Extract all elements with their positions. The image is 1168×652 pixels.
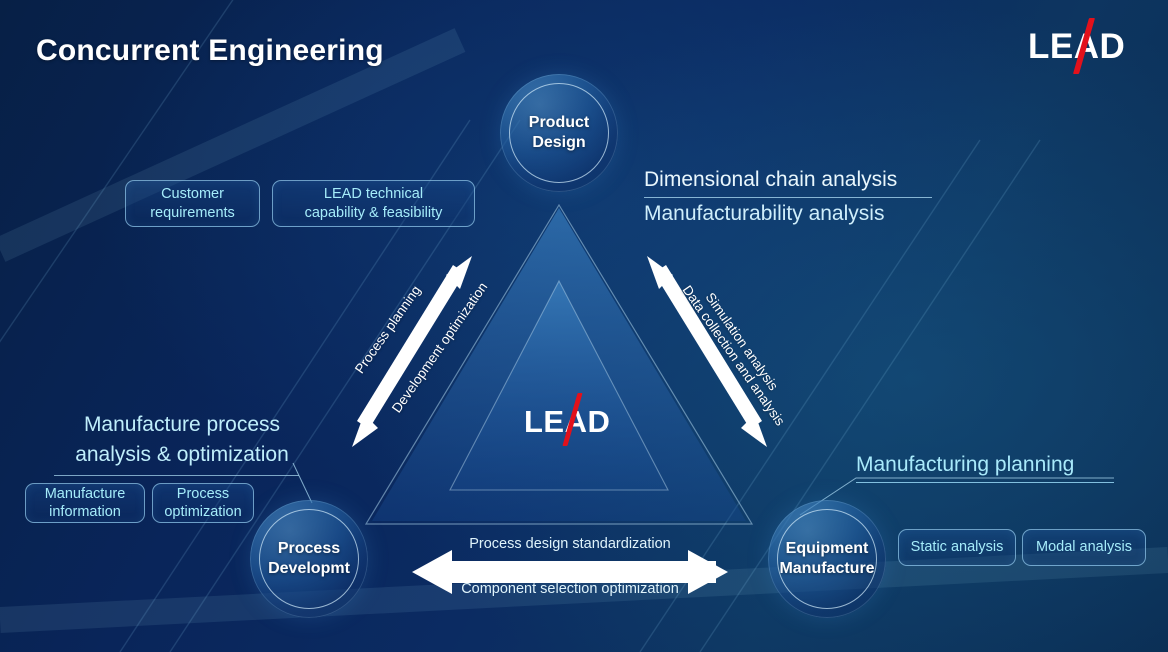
lead-logo-top: LEAD: [1028, 22, 1124, 70]
page-title: Concurrent Engineering: [36, 34, 384, 68]
arrow-label-component-selection-optimization: Component selection optimization: [400, 581, 740, 597]
node-process-development-line2: Developmt: [268, 559, 350, 579]
arrow-label-process-design-standardization: Process design standardization: [400, 536, 740, 552]
node-equipment-manufacture-line2: Manufacture: [779, 559, 874, 579]
pill-customer-requirements[interactable]: Customer requirements: [125, 180, 260, 227]
pill-lead-technical-capability-line1: LEAD technical: [305, 185, 443, 203]
slide-canvas: Concurrent Engineering LEAD LEAD Product…: [0, 0, 1168, 652]
pill-process-optimization-line1: Process: [164, 485, 241, 503]
lead-logo-center: LEAD: [524, 400, 608, 444]
annotation-dimensional-chain-analysis: Dimensional chain analysis: [644, 165, 944, 195]
annotation-manufacture-process-line2: analysis & optimization: [48, 440, 316, 470]
pill-customer-requirements-line1: Customer: [150, 185, 235, 203]
pill-lead-technical-capability-line2: capability & feasibility: [305, 204, 443, 222]
node-process-development[interactable]: Process Developmt: [250, 500, 368, 618]
pill-manufacture-information[interactable]: Manufacture information: [25, 483, 145, 523]
node-process-development-line1: Process: [268, 539, 350, 559]
annotation-manufacturing-planning: Manufacturing planning: [856, 450, 1124, 483]
pill-manufacture-information-line1: Manufacture: [45, 485, 126, 503]
node-equipment-manufacture[interactable]: Equipment Manufacture: [768, 500, 886, 618]
node-product-design-line2: Design: [529, 133, 589, 153]
arrow-label-data-collection-and-analysis: Data collection and analysis: [680, 283, 788, 429]
pill-customer-requirements-line2: requirements: [150, 204, 235, 222]
node-equipment-manufacture-line1: Equipment: [779, 539, 874, 559]
annotation-manufacturing-planning-text: Manufacturing planning: [856, 450, 1124, 480]
inner-triangle: [450, 281, 668, 490]
arrow-label-process-planning: Process planning: [352, 283, 424, 376]
pill-manufacture-information-line2: information: [45, 503, 126, 521]
annotation-product-design: Dimensional chain analysis Manufacturabi…: [644, 165, 944, 229]
pill-static-analysis[interactable]: Static analysis: [898, 529, 1016, 566]
node-product-design-line1: Product: [529, 113, 589, 133]
pill-modal-analysis[interactable]: Modal analysis: [1022, 529, 1146, 566]
annotation-manufacture-process-line1: Manufacture process: [48, 410, 316, 440]
node-product-design[interactable]: Product Design: [500, 74, 618, 192]
annotation-divider: [644, 197, 932, 198]
annotation-manufacture-process: Manufacture process analysis & optimizat…: [48, 410, 316, 476]
pill-process-optimization[interactable]: Process optimization: [152, 483, 254, 523]
pill-process-optimization-line2: optimization: [164, 503, 241, 521]
pill-lead-technical-capability[interactable]: LEAD technical capability & feasibility: [272, 180, 475, 227]
annotation-divider: [54, 475, 299, 476]
annotation-divider: [856, 482, 1114, 483]
annotation-manufacturability-analysis: Manufacturability analysis: [644, 199, 944, 229]
